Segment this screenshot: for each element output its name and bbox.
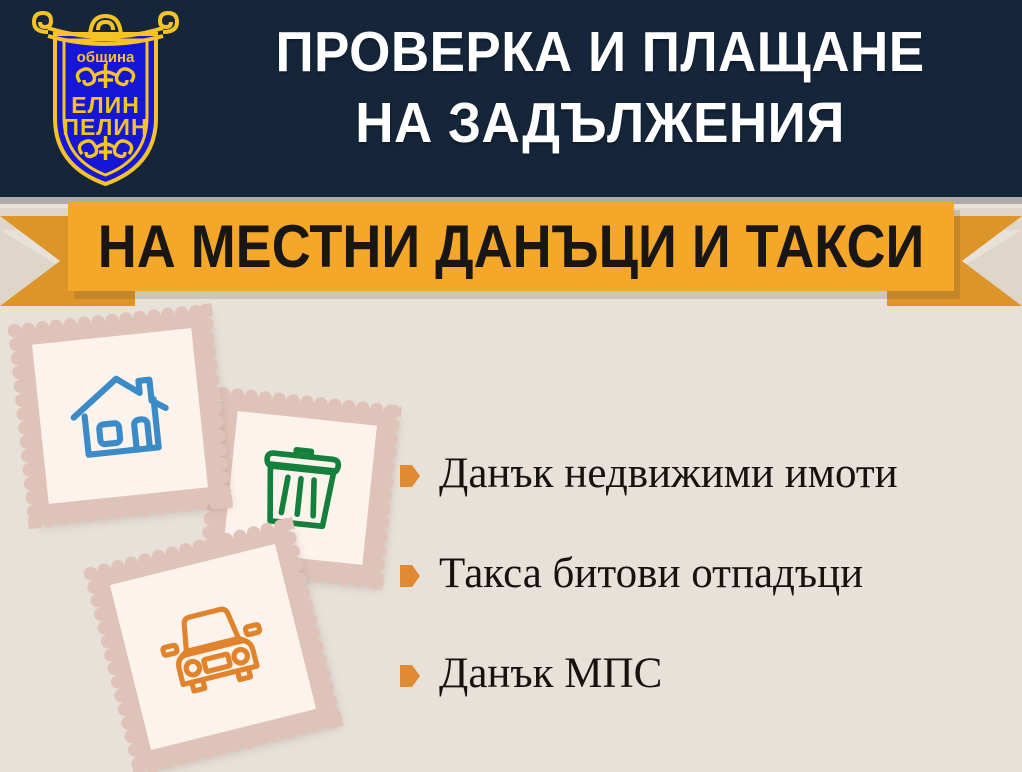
house-icon: [60, 356, 181, 477]
arrow-bullet-icon: [400, 565, 420, 587]
tax-types-list: Данък недвижими имоти Такса битови отпад…: [400, 424, 1010, 724]
logo-name-line2: ПЕЛИН: [62, 114, 148, 140]
subtitle-ribbon: НА МЕСТНИ ДАНЪЦИ И ТАКСИ: [0, 196, 1022, 308]
poster-canvas: община ЕЛИН ПЕЛИН ПРОВЕРКА И ПЛАЩАНЕ НА …: [0, 0, 1022, 772]
municipality-logo: община ЕЛИН ПЕЛИН: [28, 8, 183, 188]
stamp-card-property-tax: [14, 310, 225, 521]
page-title: ПРОВЕРКА И ПЛАЩАНЕ НА ЗАДЪЛЖЕНИЯ: [214, 17, 986, 159]
car-front-icon: [145, 579, 281, 715]
list-item-label: Такса битови отпадъци: [439, 551, 863, 596]
page-title-line1: ПРОВЕРКА И ПЛАЩАНЕ: [275, 20, 924, 84]
list-item[interactable]: Такса битови отпадъци: [400, 524, 1010, 624]
logo-top-text: община: [77, 49, 135, 66]
ribbon-label: НА МЕСТНИ ДАНЪЦИ И ТАКСИ: [112, 202, 909, 291]
list-item-label: Данък недвижими имоти: [439, 451, 898, 496]
list-item[interactable]: Данък МПС: [400, 624, 1010, 724]
stamp-inner: [110, 544, 316, 750]
page-title-line2: НА ЗАДЪЛЖЕНИЯ: [214, 88, 986, 159]
list-item-label: Данък МПС: [439, 651, 662, 696]
coat-of-arms-icon: община ЕЛИН ПЕЛИН: [28, 8, 183, 188]
list-item[interactable]: Данък недвижими имоти: [400, 424, 1010, 524]
stamp-card-vehicle-tax: [91, 525, 336, 770]
arrow-bullet-icon: [400, 665, 420, 687]
arrow-bullet-icon: [400, 465, 420, 487]
stamp-inner: [32, 328, 208, 504]
